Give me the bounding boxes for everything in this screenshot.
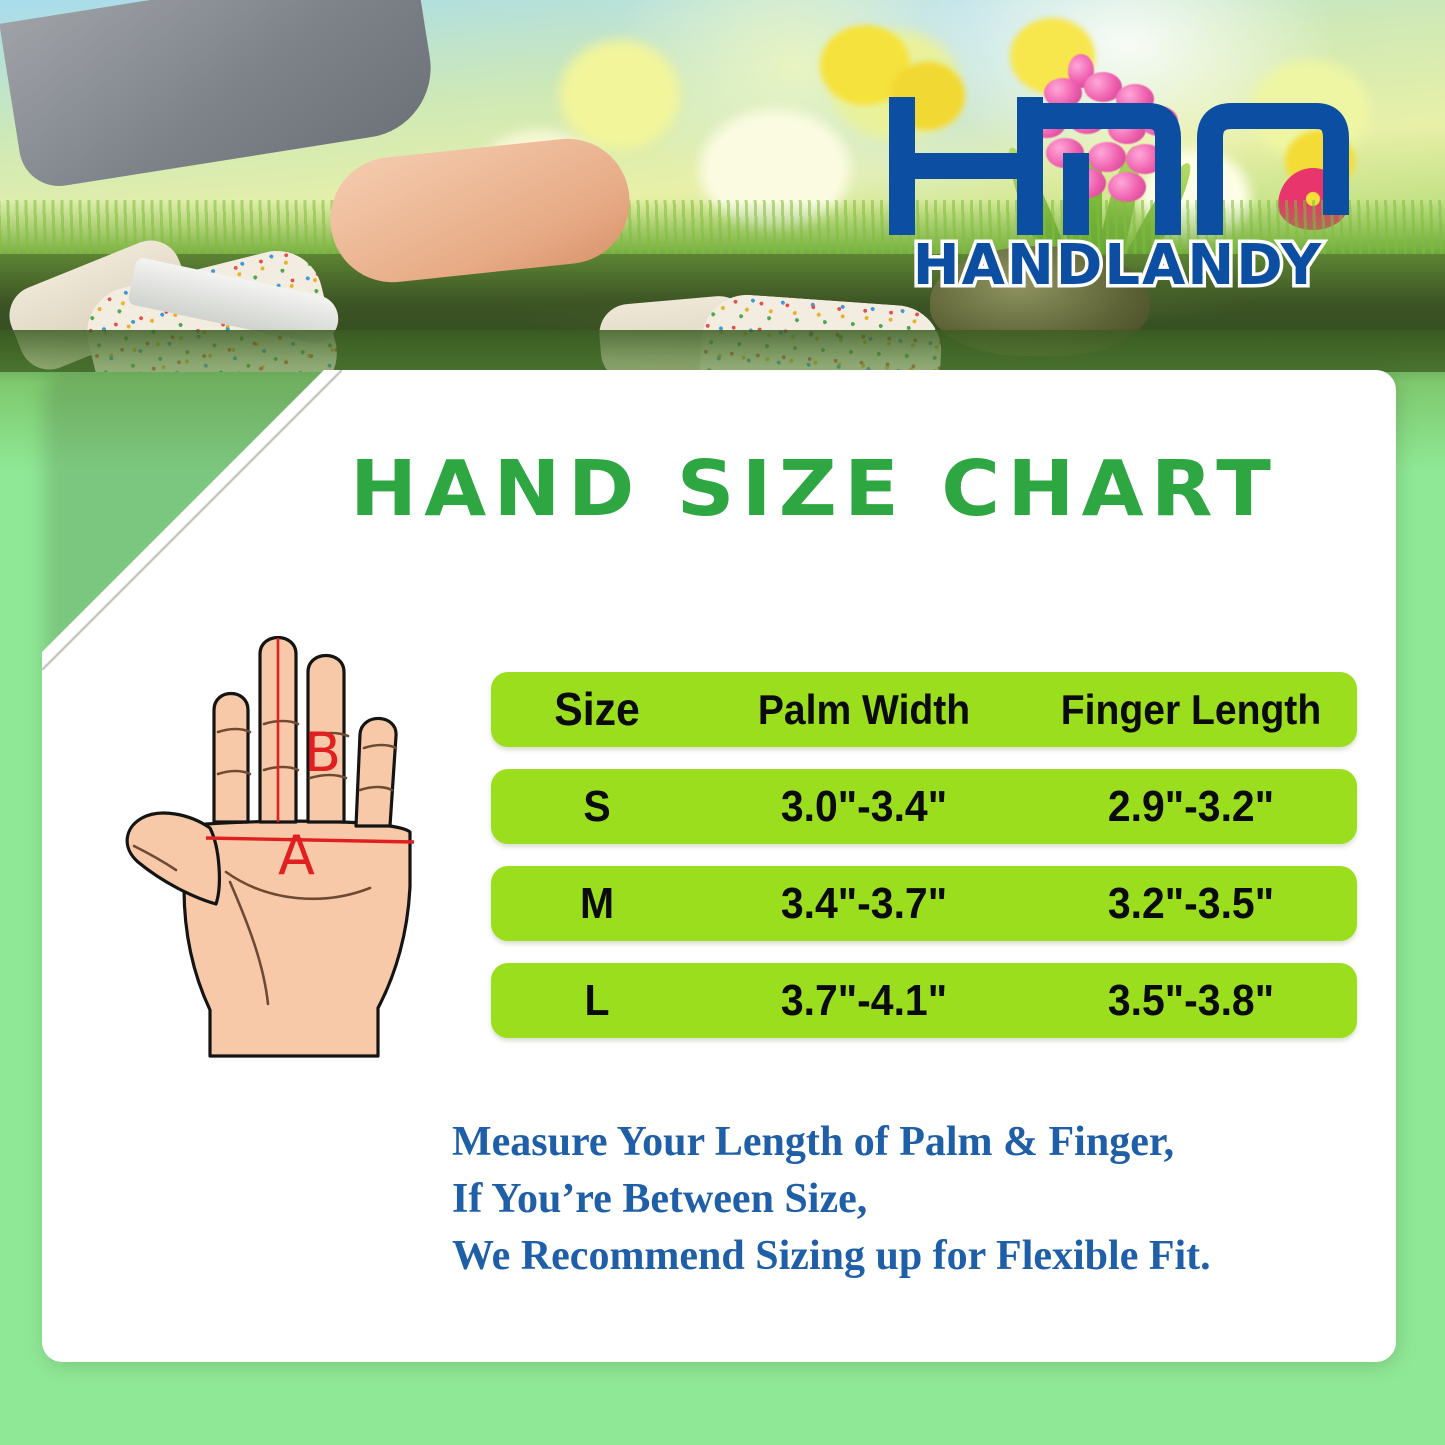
value-palm: 3.7"-4.1" xyxy=(714,963,1013,1038)
hero-photo: HANDLANDY xyxy=(0,0,1445,372)
note-line-3: We Recommend Sizing up for Flexible Fit. xyxy=(452,1228,1372,1285)
forearm xyxy=(324,133,635,289)
note-line-1: Measure Your Length of Palm & Finger, xyxy=(452,1114,1372,1171)
cell-palm: 3.7"-4.1" xyxy=(703,963,1025,1038)
hand-measurement-diagram: B A xyxy=(98,636,488,1076)
table-row: S 3.0"-3.4" 2.9"-3.2" xyxy=(491,769,1357,844)
value-finger: 3.2"-3.5" xyxy=(1037,866,1346,941)
header-label-palm: Palm Width xyxy=(714,672,1013,747)
value-size: S xyxy=(498,769,695,844)
cell-size: M xyxy=(491,866,703,941)
header-label-size: Size xyxy=(498,672,695,747)
page-title: HAND SIZE CHART xyxy=(350,444,1400,536)
cell-palm: 3.0"-3.4" xyxy=(703,769,1025,844)
table-row: M 3.4"-3.7" 3.2"-3.5" xyxy=(491,866,1357,941)
cell-finger: 3.2"-3.5" xyxy=(1025,866,1357,941)
logo-wordmark: HANDLANDY xyxy=(913,233,1323,292)
handlandy-logo: HANDLANDY xyxy=(880,92,1350,292)
header-cell-size: Size xyxy=(491,672,703,747)
value-finger: 3.5"-3.8" xyxy=(1037,963,1346,1038)
size-chart-table: Size Palm Width Finger Length S 3.0"-3.4… xyxy=(491,672,1357,1060)
value-palm: 3.0"-3.4" xyxy=(714,769,1013,844)
cell-size: L xyxy=(491,963,703,1038)
gardener-arm xyxy=(0,0,640,372)
label-b: B xyxy=(304,721,341,784)
value-size: L xyxy=(498,963,695,1038)
label-a: A xyxy=(278,824,315,887)
header-cell-finger: Finger Length xyxy=(1025,672,1357,747)
value-palm: 3.4"-3.7" xyxy=(714,866,1013,941)
cell-size: S xyxy=(491,769,703,844)
value-size: M xyxy=(498,866,695,941)
table-header-row: Size Palm Width Finger Length xyxy=(491,672,1357,747)
note-line-2: If You’re Between Size, xyxy=(452,1171,1372,1228)
table-row: L 3.7"-4.1" 3.5"-3.8" xyxy=(491,963,1357,1038)
cell-palm: 3.4"-3.7" xyxy=(703,866,1025,941)
cell-finger: 3.5"-3.8" xyxy=(1025,963,1357,1038)
header-cell-palm: Palm Width xyxy=(703,672,1025,747)
cell-finger: 2.9"-3.2" xyxy=(1025,769,1357,844)
header-label-finger: Finger Length xyxy=(1037,672,1346,747)
sizing-advice-note: Measure Your Length of Palm & Finger, If… xyxy=(452,1114,1372,1285)
value-finger: 2.9"-3.2" xyxy=(1037,769,1346,844)
